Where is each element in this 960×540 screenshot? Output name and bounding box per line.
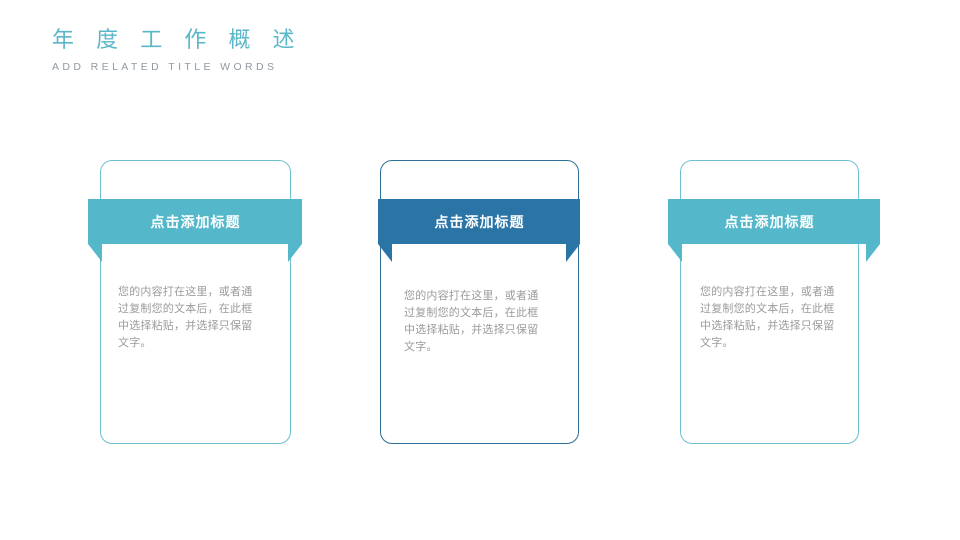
ribbon-tail-right-3 — [866, 244, 880, 262]
cards-area: 点击添加标题 您的内容打在这里，或者通过复制您的文本后，在此框中选择粘贴，并选择… — [0, 0, 960, 540]
ribbon-tail-right-2 — [566, 244, 580, 262]
ribbon-tail-right-1 — [288, 244, 302, 262]
ribbon-body-2: 点击添加标题 — [378, 199, 580, 244]
ribbon-tail-left-2 — [378, 244, 392, 262]
card-body-text-1: 您的内容打在这里，或者通过复制您的文本后，在此框中选择粘贴，并选择只保留文字。 — [118, 284, 263, 352]
ribbon-banner-2[interactable]: 点击添加标题 — [378, 199, 580, 244]
ribbon-banner-3[interactable]: 点击添加标题 — [668, 199, 880, 244]
card-heading-1: 点击添加标题 — [100, 212, 291, 232]
ribbon-body-3: 点击添加标题 — [668, 199, 880, 244]
ribbon-banner-1[interactable]: 点击添加标题 — [88, 199, 302, 244]
card-heading-2: 点击添加标题 — [380, 212, 579, 232]
card-heading-3: 点击添加标题 — [680, 212, 859, 232]
ribbon-tail-left-1 — [88, 244, 102, 262]
ribbon-body-1: 点击添加标题 — [88, 199, 302, 244]
card-body-text-3: 您的内容打在这里，或者通过复制您的文本后，在此框中选择粘贴，并选择只保留文字。 — [700, 284, 845, 352]
ribbon-tail-left-3 — [668, 244, 682, 262]
card-body-text-2: 您的内容打在这里，或者通过复制您的文本后，在此框中选择粘贴，并选择只保留文字。 — [404, 288, 549, 356]
